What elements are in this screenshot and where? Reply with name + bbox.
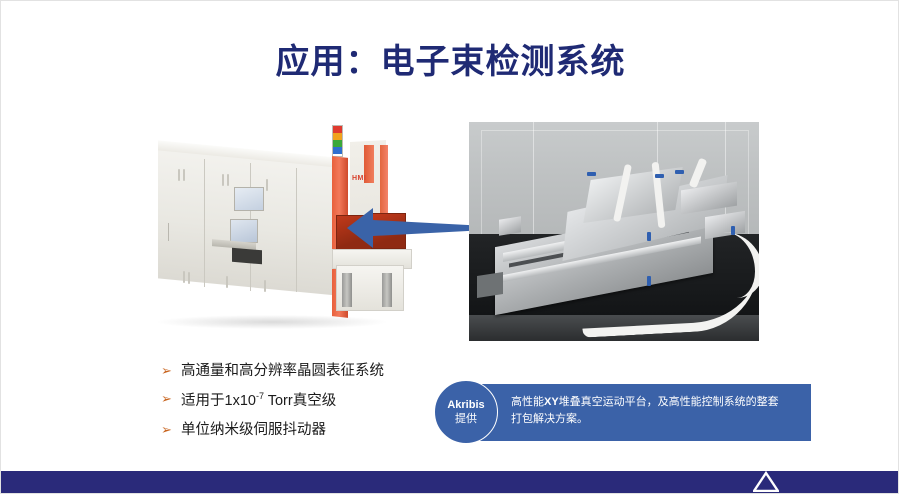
flat-cable-loop [665, 232, 759, 298]
list-item-label: 高通量和高分辨率晶圆表征系统 [181, 363, 384, 380]
cabinet-vent [183, 271, 185, 283]
cable-tie [731, 226, 735, 235]
list-item: ➢ 适用于1x10-7 Torr真空级 [161, 391, 451, 410]
cable-tie [647, 232, 651, 241]
machine-brand-mark: HMI [352, 175, 366, 182]
vacuum-text-before: 适用于1x10 [181, 393, 256, 409]
callout-line1-after: 堆叠真空运动平台，及高性能控制系统的整套 [559, 396, 779, 408]
cabinet-vent [178, 169, 180, 181]
cabinet-vent [264, 280, 266, 292]
vacuum-exponent: -7 [256, 391, 264, 401]
list-item: ➢ 高通量和高分辨率晶圆表征系统 [161, 363, 451, 380]
delta-triangle-logo [753, 471, 779, 492]
bullet-arrow-icon: ➢ [161, 422, 181, 439]
bullet-arrow-icon: ➢ [161, 391, 181, 408]
callout-description: 高性能XY堆叠真空运动平台，及高性能控制系统的整套 打包解决方案。 [511, 394, 799, 428]
stack-light [332, 125, 343, 157]
cabinet-vent [183, 169, 185, 181]
cable-tie [587, 172, 596, 176]
cabinet-vent [266, 179, 268, 191]
stage-mount-foot [477, 272, 503, 298]
callout-line2: 打包解决方案。 [511, 413, 588, 425]
machine-shadow [158, 315, 386, 329]
chamber-wall-seam [533, 122, 534, 244]
cabinet-vent [188, 272, 190, 284]
pedestal-leg [382, 273, 392, 307]
list-item-label: 单位纳米级伺服抖动器 [181, 422, 326, 439]
pointer-arrow [347, 204, 477, 252]
xy-vacuum-stage-photo [469, 122, 759, 341]
cable-tie [655, 174, 664, 178]
feature-bullet-list: ➢ 高通量和高分辨率晶圆表征系统 ➢ 适用于1x10-7 Torr真空级 ➢ 单… [161, 363, 451, 450]
machine-upper-display [234, 187, 264, 211]
cable-tie [647, 276, 651, 286]
footer-bar [1, 471, 899, 493]
list-item-label: 适用于1x10-7 Torr真空级 [181, 391, 336, 410]
list-item: ➢ 单位纳米级伺服抖动器 [161, 422, 451, 439]
pedestal-leg [342, 273, 352, 307]
cabinet-vent [226, 276, 228, 288]
callout-line1-bold: XY [544, 396, 559, 408]
cabinet-vent [227, 174, 229, 186]
pointer-arrow-icon [347, 204, 477, 252]
cable-tie [675, 170, 684, 174]
callout-line1-before: 高性能 [511, 396, 544, 408]
cabinet-panel-seam [296, 168, 297, 292]
slide-canvas: 应用：电子束检测系统 HMI [0, 0, 899, 494]
cabinet-vent [222, 174, 224, 186]
akribis-badge-subtitle: 提供 [455, 412, 477, 426]
cabinet-panel-seam [204, 159, 205, 287]
page-title: 应用：电子束检测系统 [1, 41, 899, 84]
machine-operator-display [230, 219, 258, 243]
cabinet-handle [168, 223, 169, 241]
vacuum-text-after: Torr真空级 [264, 393, 336, 409]
akribis-brand-label: Akribis [447, 398, 484, 412]
akribis-callout-box: 高性能XY堆叠真空运动平台，及高性能控制系统的整套 打包解决方案。 [466, 384, 811, 441]
akribis-badge: Akribis 提供 [434, 380, 498, 444]
machine-lower-recess [232, 248, 262, 265]
bullet-arrow-icon: ➢ [161, 363, 181, 380]
